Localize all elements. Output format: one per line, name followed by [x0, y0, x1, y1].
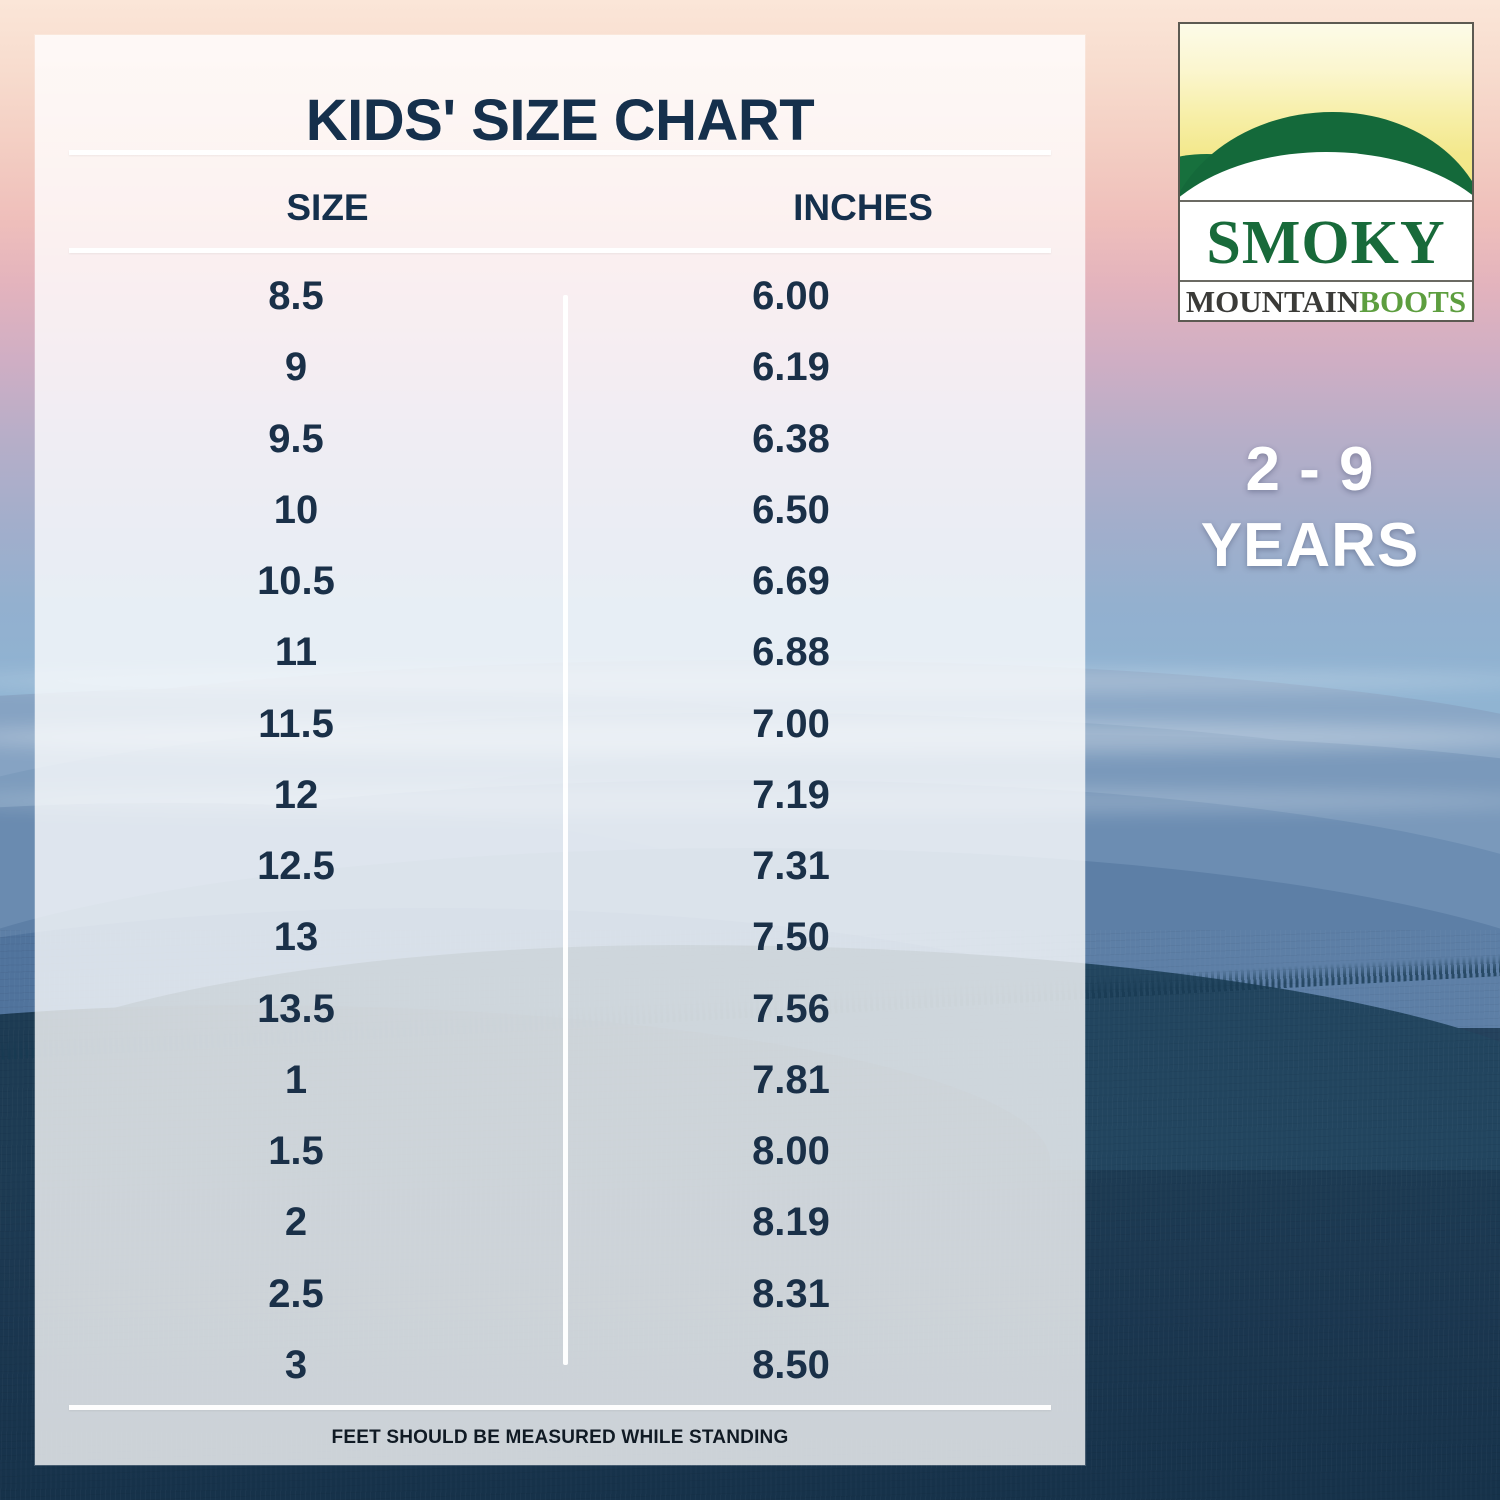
- cell-size: 13.5: [35, 987, 535, 1032]
- divider-header: [69, 248, 1051, 253]
- cell-size: 11.5: [35, 702, 535, 747]
- cell-inches: 6.69: [535, 559, 1085, 604]
- table-row: 11 6.88: [35, 617, 1085, 688]
- column-header-size: SIZE: [120, 180, 535, 236]
- logo-subtitle-mountain: MOUNTAIN: [1186, 284, 1359, 319]
- cell-size: 9.5: [35, 417, 535, 462]
- cell-inches: 8.00: [535, 1129, 1085, 1174]
- cell-inches: 7.81: [535, 1058, 1085, 1103]
- divider-title: [69, 150, 1051, 155]
- table-row: 1.5 8.00: [35, 1116, 1085, 1187]
- table-row: 13 7.50: [35, 902, 1085, 973]
- logo-mountain-icon: [1180, 24, 1472, 200]
- table-row: 9.5 6.38: [35, 404, 1085, 475]
- cell-size: 10.5: [35, 559, 535, 604]
- cell-size: 9: [35, 345, 535, 390]
- cell-inches: 7.00: [535, 702, 1085, 747]
- cell-inches: 8.19: [535, 1200, 1085, 1245]
- cell-size: 11: [35, 630, 535, 675]
- cell-size: 10: [35, 488, 535, 533]
- table-row: 10 6.50: [35, 475, 1085, 546]
- table-row: 2.5 8.31: [35, 1259, 1085, 1330]
- cell-inches: 7.19: [535, 773, 1085, 818]
- divider-footer: [69, 1405, 1051, 1410]
- cell-size: 12: [35, 773, 535, 818]
- cell-inches: 6.19: [535, 345, 1085, 390]
- page-title: KIDS' SIZE CHART: [35, 87, 1085, 154]
- cell-inches: 8.31: [535, 1272, 1085, 1317]
- table-row: 2 8.19: [35, 1187, 1085, 1258]
- cell-size: 3: [35, 1343, 535, 1388]
- age-range-text: 2 - 9: [1120, 432, 1500, 508]
- table-row: 10.5 6.69: [35, 546, 1085, 617]
- logo-divider-top: [1180, 200, 1472, 202]
- cell-inches: 6.50: [535, 488, 1085, 533]
- brand-logo: SMOKY MOUNTAINBOOTS: [1178, 22, 1474, 322]
- cell-inches: 7.50: [535, 915, 1085, 960]
- cell-size: 1: [35, 1058, 535, 1103]
- cell-size: 12.5: [35, 844, 535, 889]
- table-row: 8.5 6.00: [35, 261, 1085, 332]
- age-badge: 2 - 9 YEARS: [1120, 432, 1500, 584]
- cell-size: 8.5: [35, 274, 535, 319]
- cell-inches: 8.50: [535, 1343, 1085, 1388]
- cell-size: 2.5: [35, 1272, 535, 1317]
- cell-size: 13: [35, 915, 535, 960]
- table-row: 3 8.50: [35, 1330, 1085, 1401]
- cell-inches: 7.31: [535, 844, 1085, 889]
- cell-inches: 6.38: [535, 417, 1085, 462]
- cell-inches: 6.88: [535, 630, 1085, 675]
- size-table-body: 8.5 6.00 9 6.19 9.5 6.38 10 6.50 10.5 6.…: [35, 261, 1085, 1401]
- table-row: 13.5 7.56: [35, 974, 1085, 1045]
- table-row: 1 7.81: [35, 1045, 1085, 1116]
- cell-inches: 6.00: [535, 274, 1085, 319]
- logo-brand-name: SMOKY: [1180, 206, 1472, 280]
- size-chart-panel: KIDS' SIZE CHART SIZE INCHES 8.5 6.00 9 …: [35, 35, 1085, 1465]
- table-row: 12 7.19: [35, 760, 1085, 831]
- logo-subtitle-boots: BOOTS: [1359, 284, 1466, 319]
- cell-size: 1.5: [35, 1129, 535, 1174]
- cell-inches: 7.56: [535, 987, 1085, 1032]
- column-header-inches: INCHES: [595, 180, 1131, 236]
- table-row: 12.5 7.31: [35, 831, 1085, 902]
- table-row: 9 6.19: [35, 332, 1085, 403]
- footnote-text: FEET SHOULD BE MEASURED WHILE STANDING: [35, 1427, 1085, 1449]
- table-row: 11.5 7.00: [35, 689, 1085, 760]
- logo-brand-subtitle: MOUNTAINBOOTS: [1180, 282, 1472, 322]
- cell-size: 2: [35, 1200, 535, 1245]
- age-unit-text: YEARS: [1120, 508, 1500, 584]
